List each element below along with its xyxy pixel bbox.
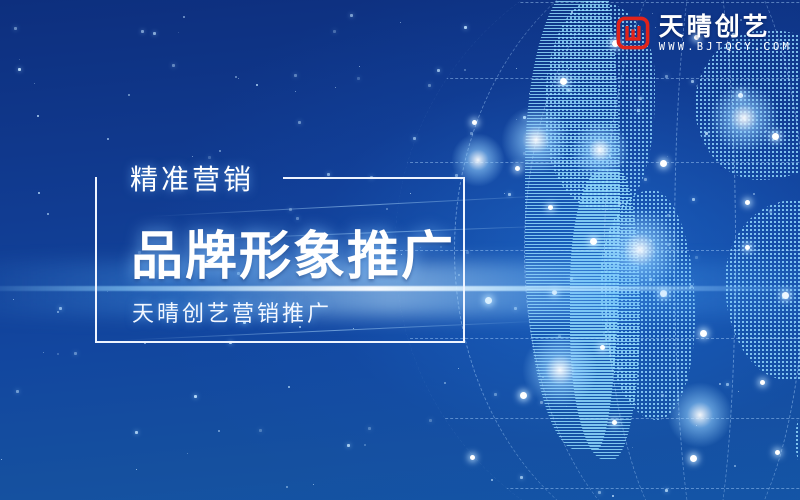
star-particle [644, 178, 647, 181]
star-particle [1, 459, 2, 460]
network-node [548, 205, 553, 210]
network-node [590, 238, 597, 245]
star-particle [464, 26, 467, 29]
star-particle [696, 85, 698, 87]
hero-headline: 品牌形象推广 [131, 214, 455, 289]
globe-meridian [454, 0, 800, 500]
star-particle [598, 491, 601, 494]
star-particle [566, 406, 567, 407]
star-particle [333, 30, 336, 33]
star-particle [313, 484, 314, 485]
star-particle [34, 83, 35, 84]
star-particle [219, 150, 221, 152]
star-particle [667, 214, 670, 217]
lens-flare [451, 133, 505, 187]
star-particle [410, 193, 411, 194]
star-particle [632, 447, 633, 448]
star-particle [400, 22, 401, 23]
lens-flare [667, 382, 733, 448]
star-particle [38, 192, 40, 194]
brand-logo[interactable]: 天晴创艺 WWW.BJTQCY.COM [616, 14, 792, 53]
star-particle [606, 270, 608, 272]
star-particle [136, 469, 137, 470]
star-particle [576, 412, 577, 413]
network-node [775, 450, 780, 455]
logo-company-name: 天晴创艺 [659, 14, 792, 40]
lens-flare [709, 83, 779, 153]
star-particle [256, 84, 258, 86]
star-particle [778, 203, 779, 204]
star-particle [667, 243, 670, 246]
star-particle [128, 94, 130, 96]
terminator-stripes [570, 170, 640, 460]
globe-parallel [395, 78, 800, 79]
star-particle [619, 416, 620, 417]
star-particle [19, 59, 20, 60]
star-particle [386, 208, 388, 210]
star-particle [695, 256, 698, 259]
star-particle [617, 235, 619, 237]
star-particle [650, 240, 652, 242]
star-particle [238, 78, 239, 79]
star-particle [529, 93, 530, 94]
star-particle [603, 332, 605, 334]
tianqing-chuangyi-mark-icon [616, 16, 650, 50]
star-particle [635, 404, 636, 405]
star-particle [508, 193, 511, 196]
star-particle [726, 383, 729, 386]
star-particle [353, 328, 354, 329]
star-particle [696, 425, 697, 426]
star-particle [705, 132, 708, 135]
star-particle [107, 291, 108, 292]
network-node [660, 290, 667, 297]
star-particle [618, 367, 621, 370]
hero-frame-right-edge [463, 177, 465, 343]
star-particle [218, 430, 220, 432]
star-particle [753, 193, 755, 195]
star-particle [347, 444, 350, 447]
star-particle [667, 156, 668, 157]
star-particle [504, 193, 505, 194]
star-particle [691, 80, 694, 83]
dotted-world-globe [395, 0, 800, 500]
network-node [700, 330, 707, 337]
star-particle [437, 69, 440, 72]
star-particle [16, 390, 19, 393]
star-particle [359, 66, 360, 67]
network-node [772, 133, 779, 140]
star-particle [732, 102, 733, 103]
continent-shape [795, 370, 800, 500]
star-particle [286, 486, 288, 488]
star-particle [327, 173, 330, 176]
star-particle [357, 77, 360, 80]
network-node [660, 160, 667, 167]
star-particle [37, 115, 39, 117]
star-particle [494, 393, 497, 396]
star-particle [690, 285, 693, 288]
network-node [745, 200, 750, 205]
network-node [515, 166, 520, 171]
network-node [470, 455, 475, 460]
network-node [782, 292, 789, 299]
star-particle [639, 97, 642, 100]
star-particle [370, 176, 373, 179]
star-particle [335, 87, 336, 88]
star-particle [735, 109, 737, 111]
star-particle [692, 198, 695, 201]
star-particle [653, 387, 654, 388]
star-particle [734, 465, 736, 467]
network-node [552, 290, 557, 295]
star-particle [571, 11, 573, 13]
star-particle [428, 84, 431, 87]
star-particle [259, 429, 262, 432]
continent-shape [600, 190, 695, 420]
lens-flare [501, 105, 571, 175]
star-particle [665, 489, 668, 492]
star-particle [187, 453, 188, 454]
star-particle [47, 213, 49, 215]
star-particle [661, 394, 664, 397]
globe-parallel [395, 162, 800, 163]
globe-parallel [395, 418, 800, 419]
star-particle [567, 89, 570, 92]
star-particle [289, 208, 292, 211]
star-particle [18, 68, 21, 71]
lens-flare [570, 120, 630, 180]
star-particle [542, 376, 544, 378]
star-particle [74, 352, 77, 355]
star-particle [14, 27, 17, 30]
marketing-banner: 精准营销 品牌形象推广 天晴创艺营销推广 天晴创艺 WWW.BJTQCY.COM [0, 0, 800, 500]
star-particle [466, 251, 469, 254]
network-node [760, 380, 765, 385]
star-particle [368, 427, 371, 430]
network-node [472, 120, 477, 125]
star-particle [520, 476, 523, 479]
star-particle [43, 352, 44, 353]
star-particle [192, 156, 193, 157]
star-particle [13, 299, 14, 300]
star-particle [59, 307, 62, 310]
star-particle [364, 444, 366, 446]
star-particle [444, 382, 446, 384]
star-particle [595, 198, 597, 200]
star-particle [570, 277, 573, 280]
star-particle [178, 32, 179, 33]
star-particle [574, 382, 575, 383]
star-particle [350, 14, 353, 17]
network-node [612, 420, 617, 425]
globe-meridian [674, 0, 736, 500]
network-node [600, 345, 605, 350]
continent-shape [725, 200, 800, 380]
star-particle [745, 201, 748, 204]
star-particle [609, 155, 611, 157]
star-particle [464, 69, 466, 71]
globe-meridian [604, 0, 800, 500]
star-particle [491, 479, 493, 481]
network-node [738, 93, 743, 98]
star-particle [765, 130, 767, 132]
star-particle [738, 391, 739, 392]
star-particle [107, 138, 109, 140]
star-particle [558, 335, 561, 338]
star-particle [719, 383, 721, 385]
network-node [560, 78, 567, 85]
star-particle [57, 311, 59, 313]
star-particle [458, 368, 459, 369]
star-particle [183, 16, 185, 18]
star-particle [235, 76, 237, 78]
star-particle [649, 278, 652, 281]
star-particle [523, 152, 526, 155]
star-particle [172, 64, 175, 67]
network-node [485, 297, 492, 304]
star-particle [516, 119, 517, 120]
star-particle [618, 202, 621, 205]
hero-frame-bottom-edge [95, 341, 465, 343]
star-particle [665, 75, 668, 78]
star-particle [516, 68, 517, 69]
lens-flare [522, 332, 598, 408]
star-particle [514, 307, 517, 310]
star-particle [153, 32, 156, 35]
star-particle [686, 379, 688, 381]
star-particle [769, 210, 772, 213]
star-particle [678, 414, 679, 415]
hero-frame-top-edge [283, 177, 465, 179]
globe-meridian [524, 0, 800, 500]
star-particle [135, 431, 138, 434]
hero-eyebrow: 精准营销 [130, 158, 254, 198]
star-particle [470, 132, 473, 135]
star-particle [458, 274, 460, 276]
lens-flare [597, 207, 683, 293]
hero-frame-left-edge [95, 177, 97, 343]
logo-text-block: 天晴创艺 WWW.BJTQCY.COM [659, 14, 792, 53]
star-particle [298, 121, 301, 124]
star-particle [194, 395, 197, 398]
globe-parallel [395, 250, 800, 251]
network-node [690, 455, 697, 462]
star-particle [540, 401, 543, 404]
network-node [520, 392, 527, 399]
star-particle [144, 342, 146, 344]
terminator-stripes [525, 0, 620, 450]
network-node [745, 245, 750, 250]
globe-meridian [395, 0, 800, 500]
star-particle [57, 353, 59, 355]
globe-parallel [395, 488, 800, 489]
star-particle [413, 137, 416, 140]
globe-sphere [395, 0, 800, 500]
star-particle [295, 91, 296, 92]
star-particle [455, 174, 458, 177]
star-particle [429, 419, 432, 422]
star-particle [288, 386, 290, 388]
star-particle [617, 189, 619, 191]
globe-parallel [395, 2, 800, 3]
hero-subtitle: 天晴创艺营销推广 [132, 296, 332, 328]
globe-parallel [395, 338, 800, 339]
star-particle [794, 323, 795, 324]
star-particle [637, 109, 640, 112]
star-particle [141, 30, 144, 33]
star-particle [523, 116, 526, 119]
star-particle [612, 495, 614, 497]
logo-website: WWW.BJTQCY.COM [659, 42, 792, 53]
star-particle [229, 341, 232, 344]
star-particle [568, 68, 569, 69]
star-particle [294, 74, 297, 77]
